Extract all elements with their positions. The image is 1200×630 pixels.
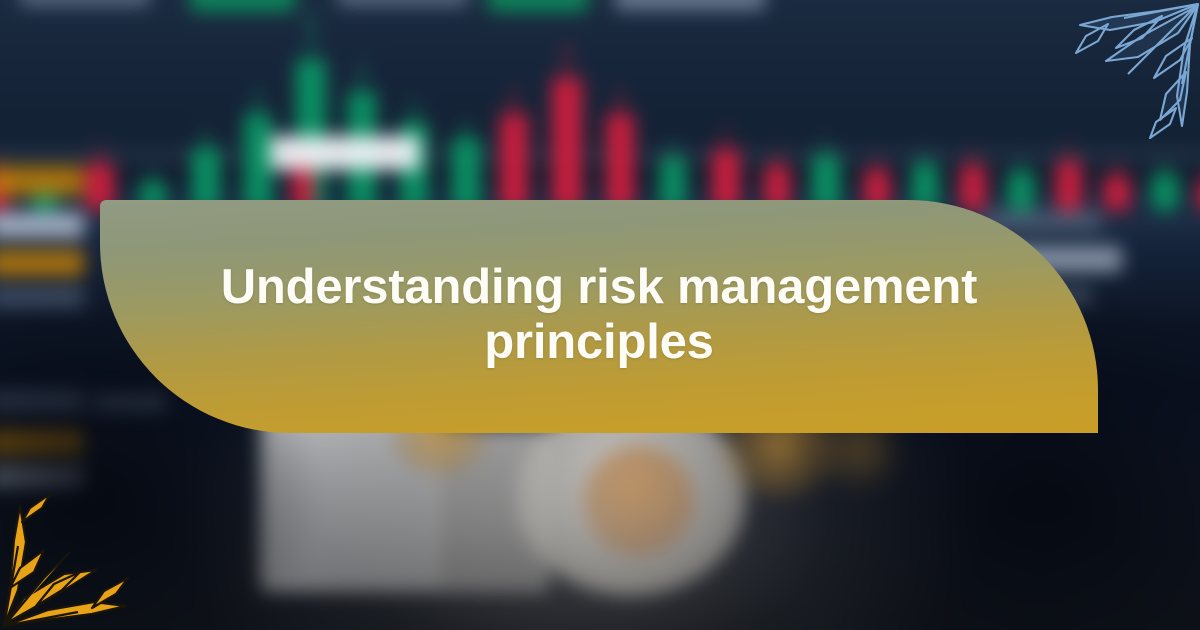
poster-canvas: Understanding risk management principles	[0, 0, 1200, 630]
page-title: Understanding risk management principles	[199, 260, 999, 374]
title-banner: Understanding risk management principles	[100, 200, 1098, 433]
